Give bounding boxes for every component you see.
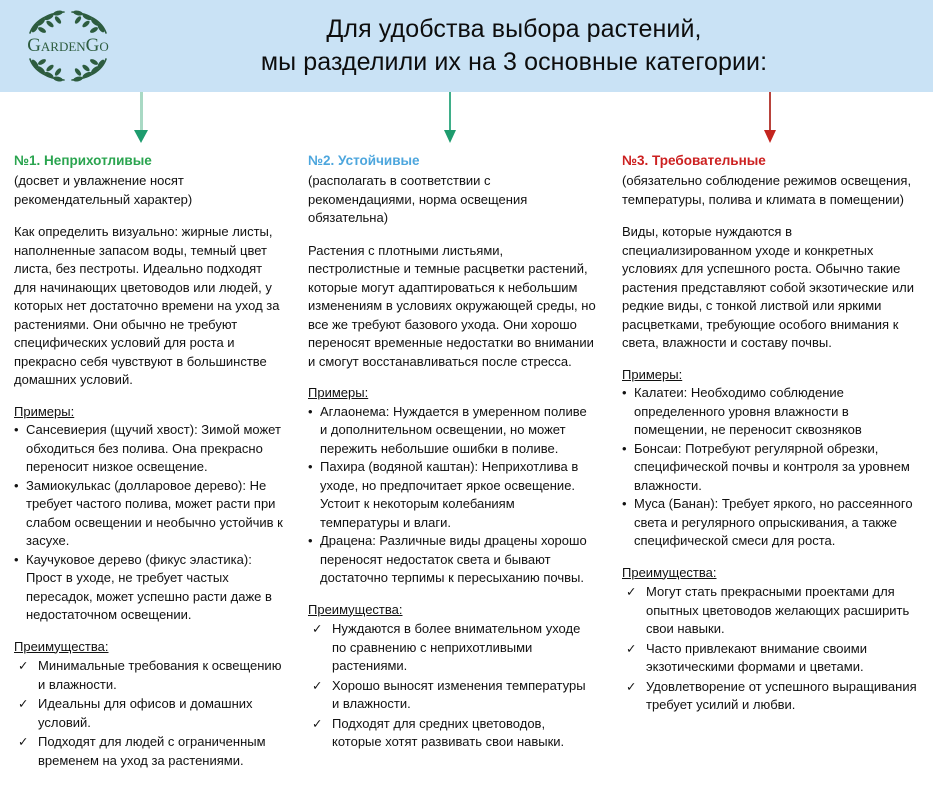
page-title: Для удобства выбора растений, мы раздели… bbox=[135, 13, 933, 79]
category-2-advantages-label: Преимущества: bbox=[308, 601, 596, 620]
category-1-advantages-label: Преимущества: bbox=[14, 638, 286, 657]
category-3-advantages-block: Преимущества: Могут стать прекрасными пр… bbox=[622, 564, 919, 715]
category-1-advantages-block: Преимущества: Минимальные требования к о… bbox=[14, 638, 286, 771]
arrow-head bbox=[134, 130, 148, 143]
arrow-column-3 bbox=[760, 92, 780, 148]
category-3-description: Виды, которые нуждаются в специализирова… bbox=[622, 223, 919, 353]
category-1-subtitle: (досвет и увлажнение носят рекомендатель… bbox=[14, 172, 286, 209]
category-3-advantages-list: Могут стать прекрасными проектами для оп… bbox=[622, 583, 919, 715]
category-2-examples-list: Аглаонема: Нуждается в умеренном поливе … bbox=[308, 403, 596, 588]
list-item: Удовлетворение от успешного выращивания … bbox=[622, 678, 919, 715]
category-3-title: №3. Требовательные bbox=[622, 152, 919, 170]
category-1-examples-block: Примеры: Сансевиерия (щучий хвост): Зимо… bbox=[14, 403, 286, 625]
category-column-3: №3. Требовательные (обязательно соблюден… bbox=[610, 152, 933, 771]
arrow-shaft bbox=[449, 92, 451, 132]
list-item: Нуждаются в более внимательном уходе по … bbox=[308, 620, 596, 676]
list-item: Сансевиерия (щучий хвост): Зимой может о… bbox=[14, 421, 286, 477]
category-2-title: №2. Устойчивые bbox=[308, 152, 596, 170]
arrow-head bbox=[764, 130, 776, 143]
list-item: Муса (Банан): Требует яркого, но рассеян… bbox=[622, 495, 919, 551]
list-item: Могут стать прекрасными проектами для оп… bbox=[622, 583, 919, 639]
arrow-column-1 bbox=[131, 92, 151, 148]
list-item: Аглаонема: Нуждается в умеренном поливе … bbox=[308, 403, 596, 459]
category-3-advantages-label: Преимущества: bbox=[622, 564, 919, 583]
arrow-head bbox=[444, 130, 456, 143]
category-3-subtitle: (обязательно соблюдение режимов освещени… bbox=[622, 172, 919, 209]
brand-logo: GardenGo bbox=[0, 0, 135, 92]
category-2-examples-label: Примеры: bbox=[308, 384, 596, 403]
brand-logo-text: GardenGo bbox=[27, 35, 109, 56]
category-1-description: Как определить визуально: жирные листы, … bbox=[14, 223, 286, 390]
category-2-advantages-list: Нуждаются в более внимательном уходе по … bbox=[308, 620, 596, 752]
category-3-examples-list: Калатеи: Необходимо соблюдение определен… bbox=[622, 384, 919, 551]
list-item: Пахира (водяной каштан): Неприхотлива в … bbox=[308, 458, 596, 532]
list-item: Подходят для средних цветоводов, которые… bbox=[308, 715, 596, 752]
list-item: Бонсаи: Потребуют регулярной обрезки, сп… bbox=[622, 440, 919, 496]
arrow-column-2 bbox=[440, 92, 460, 148]
category-column-1: №1. Неприхотливые (досвет и увлажнение н… bbox=[0, 152, 300, 771]
list-item: Калатеи: Необходимо соблюдение определен… bbox=[622, 384, 919, 440]
category-2-subtitle: (располагать в соответствии с рекомендац… bbox=[308, 172, 596, 228]
category-1-advantages-list: Минимальные требования к освещению и вла… bbox=[14, 657, 286, 770]
laurel-wreath-icon: GardenGo bbox=[8, 3, 128, 89]
category-2-advantages-block: Преимущества: Нуждаются в более внимател… bbox=[308, 601, 596, 752]
page-title-line-2: мы разделили их на 3 основные категории: bbox=[135, 46, 893, 79]
arrow-row bbox=[0, 92, 933, 152]
list-item: Минимальные требования к освещению и вла… bbox=[14, 657, 286, 694]
arrow-shaft bbox=[140, 92, 143, 132]
arrow-shaft bbox=[769, 92, 771, 132]
category-1-examples-label: Примеры: bbox=[14, 403, 286, 422]
category-column-2: №2. Устойчивые (располагать в соответств… bbox=[300, 152, 610, 771]
list-item: Идеальны для офисов и домашних условий. bbox=[14, 695, 286, 732]
list-item: Каучуковое дерево (фикус эластика): Прос… bbox=[14, 551, 286, 625]
list-item: Часто привлекают внимание своими экзотич… bbox=[622, 640, 919, 677]
category-3-examples-label: Примеры: bbox=[622, 366, 919, 385]
page-title-line-1: Для удобства выбора растений, bbox=[135, 13, 893, 46]
list-item: Замиокулькас (долларовое дерево): Не тре… bbox=[14, 477, 286, 551]
category-2-description: Растения с плотными листьями, пестролист… bbox=[308, 242, 596, 372]
category-1-title: №1. Неприхотливые bbox=[14, 152, 286, 170]
list-item: Подходят для людей с ограниченным времен… bbox=[14, 733, 286, 770]
category-2-examples-block: Примеры: Аглаонема: Нуждается в умеренно… bbox=[308, 384, 596, 588]
list-item: Драцена: Различные виды драцены хорошо п… bbox=[308, 532, 596, 588]
page-header: GardenGo Для удобства выбора растений, м… bbox=[0, 0, 933, 92]
category-3-examples-block: Примеры: Калатеи: Необходимо соблюдение … bbox=[622, 366, 919, 551]
category-1-examples-list: Сансевиерия (щучий хвост): Зимой может о… bbox=[14, 421, 286, 625]
list-item: Хорошо выносят изменения температуры и в… bbox=[308, 677, 596, 714]
category-columns: №1. Неприхотливые (досвет и увлажнение н… bbox=[0, 152, 933, 771]
